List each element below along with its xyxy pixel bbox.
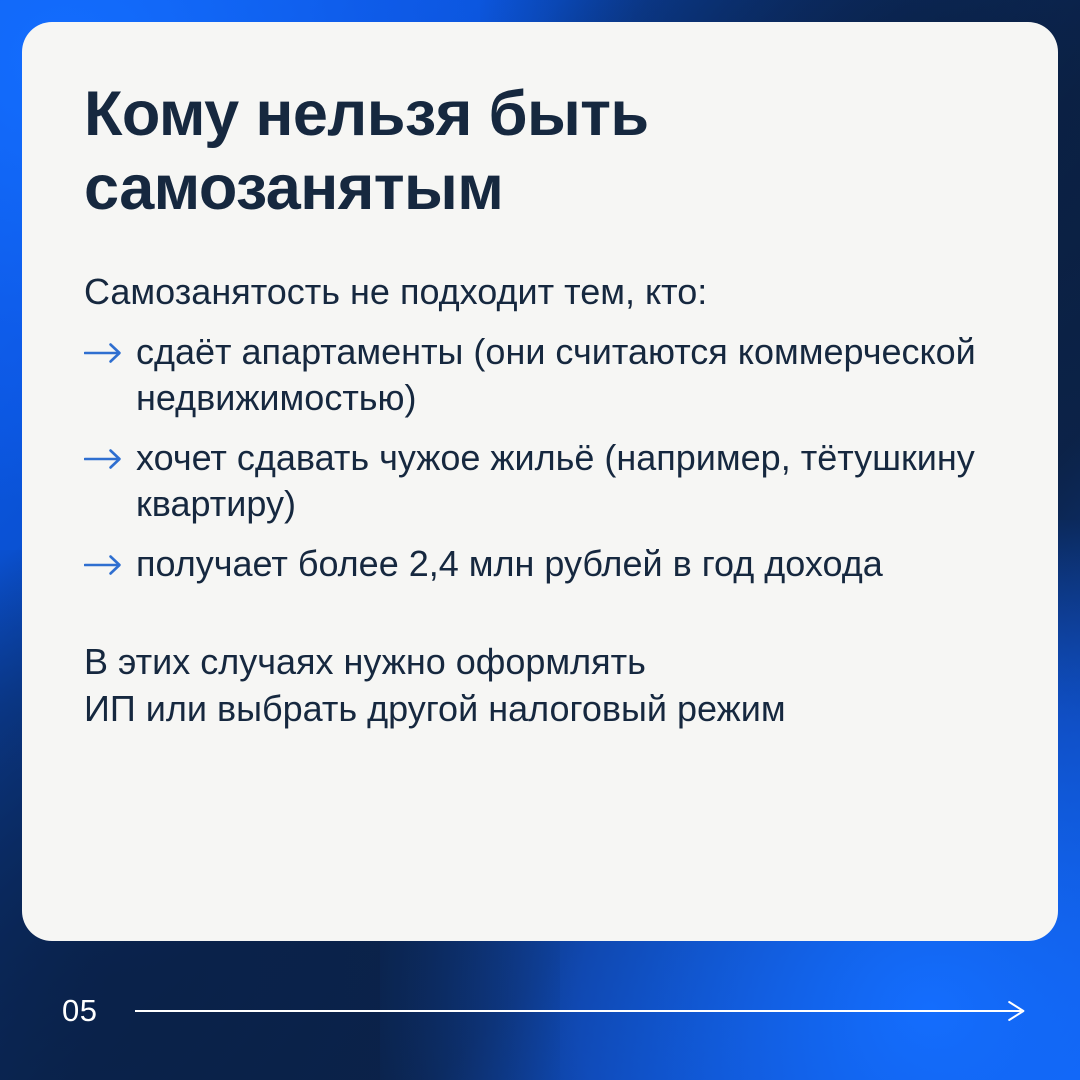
list-item-label: сдаёт апартаменты (они считаются коммерч… xyxy=(136,329,996,421)
bullet-list: сдаёт апартаменты (они считаются коммерч… xyxy=(84,329,996,587)
footer: 05 xyxy=(0,941,1080,1080)
arrow-right-icon xyxy=(84,541,136,576)
slide: Кому нельзя быть самозанятым Самозанятос… xyxy=(0,0,1080,1080)
closing-text: В этих случаях нужно оформлять ИП или вы… xyxy=(84,639,996,732)
page-number: 05 xyxy=(62,993,97,1029)
progress-arrow-icon xyxy=(135,998,1030,1024)
list-item-label: получает более 2,4 млн рублей в год дохо… xyxy=(136,541,883,587)
arrow-right-icon xyxy=(84,435,136,470)
page-title: Кому нельзя быть самозанятым xyxy=(84,78,864,225)
list-item-label: хочет сдавать чужое жильё (например, тёт… xyxy=(136,435,996,527)
content-card: Кому нельзя быть самозанятым Самозанятос… xyxy=(22,22,1058,941)
list-item: получает более 2,4 млн рублей в год дохо… xyxy=(84,541,996,587)
list-item: сдаёт апартаменты (они считаются коммерч… xyxy=(84,329,996,421)
list-item: хочет сдавать чужое жильё (например, тёт… xyxy=(84,435,996,527)
intro-text: Самозанятость не подходит тем, кто: xyxy=(84,269,996,314)
arrow-right-icon xyxy=(84,329,136,364)
